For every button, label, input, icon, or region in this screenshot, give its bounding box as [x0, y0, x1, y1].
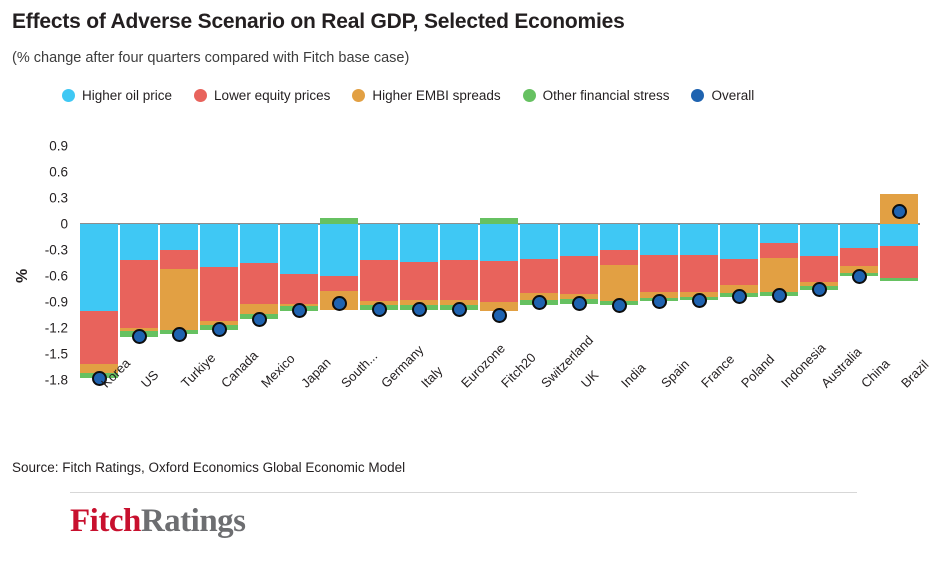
bar-segment: [760, 224, 798, 243]
bar-group[interactable]: [280, 146, 318, 380]
bar-segment: [240, 224, 278, 263]
y-tick-label: 0.6: [49, 165, 68, 179]
bar-segment: [200, 224, 238, 267]
bar-group[interactable]: [320, 146, 358, 380]
source-note: Source: Fitch Ratings, Oxford Economics …: [12, 460, 405, 475]
bar-segment: [160, 269, 198, 330]
legend-label: Other financial stress: [543, 88, 670, 103]
overall-marker[interactable]: [532, 295, 547, 310]
overall-marker[interactable]: [252, 312, 267, 327]
bar-segment: [880, 224, 918, 246]
legend-item-4[interactable]: Overall: [691, 88, 754, 103]
bar-segment: [320, 218, 358, 224]
bar-segment: [760, 243, 798, 258]
legend-label: Lower equity prices: [214, 88, 330, 103]
overall-marker[interactable]: [292, 303, 307, 318]
bar-segment: [280, 224, 318, 274]
bar-segment: [640, 255, 678, 292]
logo-ratings: Ratings: [141, 503, 246, 539]
bar-group[interactable]: [840, 146, 878, 380]
y-tick-label: -0.6: [45, 269, 68, 283]
bar-segment: [560, 224, 598, 256]
overall-marker[interactable]: [372, 302, 387, 317]
overall-marker[interactable]: [732, 289, 747, 304]
bar-segment: [120, 260, 158, 328]
bar-segment: [80, 311, 118, 365]
chart-subtitle: (% change after four quarters compared w…: [12, 50, 409, 66]
y-tick-label: 0.9: [49, 139, 68, 153]
chart-page: Effects of Adverse Scenario on Real GDP,…: [0, 0, 933, 568]
bar-segment: [720, 259, 758, 285]
bar-group[interactable]: [160, 146, 198, 380]
legend-item-3[interactable]: Other financial stress: [523, 88, 670, 103]
footer-divider: [70, 492, 857, 493]
overall-marker[interactable]: [812, 282, 827, 297]
overall-marker[interactable]: [572, 296, 587, 311]
overall-marker[interactable]: [132, 329, 147, 344]
bar-group[interactable]: [680, 146, 718, 380]
y-tick-label: 0.3: [49, 191, 68, 205]
overall-marker[interactable]: [692, 293, 707, 308]
page-title: Effects of Adverse Scenario on Real GDP,…: [12, 10, 625, 34]
bar-group[interactable]: [440, 146, 478, 380]
y-tick-label: -0.3: [45, 243, 68, 257]
x-axis-labels: KoreaUSTurkiyeCanadaMexicoJapanSouth...G…: [0, 380, 933, 450]
bar-segment: [320, 224, 358, 276]
bar-group[interactable]: [640, 146, 678, 380]
bar-segment: [480, 218, 518, 224]
y-tick-label: 0: [60, 217, 68, 231]
legend-swatch-icon: [691, 89, 704, 102]
legend-swatch-icon: [523, 89, 536, 102]
bar-segment: [80, 224, 118, 311]
fitch-ratings-logo: FitchRatings: [70, 503, 246, 540]
bar-segment: [640, 224, 678, 255]
legend-item-2[interactable]: Higher EMBI spreads: [352, 88, 500, 103]
bar-segment: [280, 274, 318, 303]
bar-segment: [120, 224, 158, 260]
y-tick-label: -1.5: [45, 347, 68, 361]
bar-group[interactable]: [760, 146, 798, 380]
bar-segment: [320, 276, 358, 291]
overall-marker[interactable]: [852, 269, 867, 284]
bar-segment: [760, 258, 798, 293]
bar-segment: [400, 262, 438, 300]
bar-segment: [560, 256, 598, 294]
bar-segment: [800, 256, 838, 282]
legend-label: Higher oil price: [82, 88, 172, 103]
bar-segment: [160, 224, 198, 250]
bar-segment: [600, 224, 638, 250]
legend-swatch-icon: [62, 89, 75, 102]
chart-legend: Higher oil priceLower equity pricesHighe…: [62, 88, 754, 103]
overall-marker[interactable]: [492, 308, 507, 323]
legend-item-1[interactable]: Lower equity prices: [194, 88, 330, 103]
bar-group[interactable]: [120, 146, 158, 380]
bar-segment: [680, 255, 718, 291]
y-axis-ticks: 0.90.60.30-0.3-0.6-0.9-1.2-1.5-1.8: [0, 146, 74, 386]
bar-group[interactable]: [360, 146, 398, 380]
logo-fitch: Fitch: [70, 503, 141, 539]
legend-item-0[interactable]: Higher oil price: [62, 88, 172, 103]
overall-marker[interactable]: [772, 288, 787, 303]
bar-segment: [680, 224, 718, 255]
bar-group[interactable]: [80, 146, 118, 380]
overall-marker[interactable]: [452, 302, 467, 317]
bar-segment: [520, 259, 558, 294]
bar-segment: [200, 267, 238, 321]
bar-segment: [880, 278, 918, 281]
bar-segment: [240, 263, 278, 304]
overall-marker[interactable]: [212, 322, 227, 337]
bar-segment: [600, 250, 638, 265]
bar-group[interactable]: [200, 146, 238, 380]
bar-segment: [840, 224, 878, 248]
bar-segment: [160, 250, 198, 269]
bar-group[interactable]: [520, 146, 558, 380]
bar-group[interactable]: [600, 146, 638, 380]
y-tick-label: -1.2: [45, 321, 68, 335]
bar-segment: [720, 224, 758, 259]
bar-segment: [880, 246, 918, 278]
legend-swatch-icon: [352, 89, 365, 102]
legend-swatch-icon: [194, 89, 207, 102]
bar-group[interactable]: [240, 146, 278, 380]
bar-segment: [440, 224, 478, 260]
bar-segment: [440, 260, 478, 300]
overall-marker[interactable]: [612, 298, 627, 313]
bar-segment: [520, 224, 558, 259]
overall-marker[interactable]: [892, 204, 907, 219]
bar-segment: [480, 224, 518, 261]
bar-group[interactable]: [720, 146, 758, 380]
legend-label: Overall: [711, 88, 754, 103]
y-tick-label: -0.9: [45, 295, 68, 309]
overall-marker[interactable]: [332, 296, 347, 311]
bar-segment: [840, 248, 878, 265]
bar-segment: [360, 224, 398, 260]
bar-segment: [400, 224, 438, 262]
legend-label: Higher EMBI spreads: [372, 88, 500, 103]
overall-marker[interactable]: [172, 327, 187, 342]
bar-segment: [600, 265, 638, 301]
bar-group[interactable]: [880, 146, 918, 380]
bar-segment: [480, 261, 518, 302]
bar-segment: [360, 260, 398, 301]
overall-marker[interactable]: [652, 294, 667, 309]
bar-segment: [800, 224, 838, 256]
overall-marker[interactable]: [412, 302, 427, 317]
